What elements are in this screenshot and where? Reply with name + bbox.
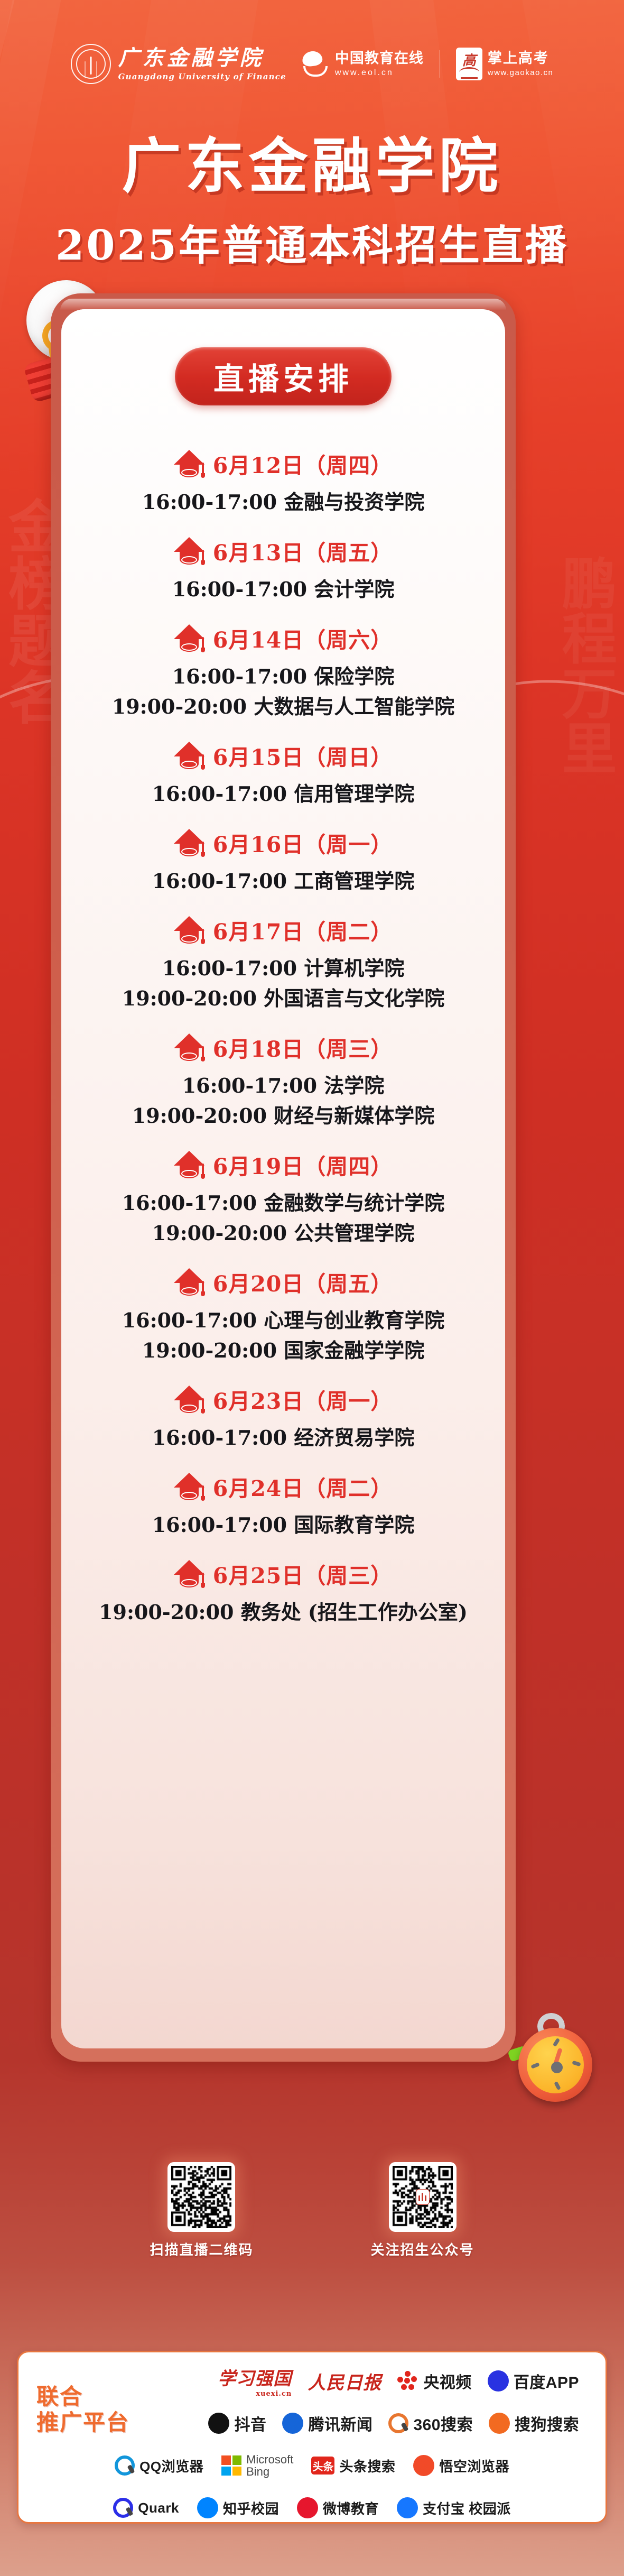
- partner-badge-icon: [488, 2370, 509, 2392]
- schedule-day-header: 6月25日（周三）: [61, 1558, 505, 1590]
- qr-live-block: 扫描直播二维码: [150, 2162, 253, 2259]
- schedule-day-header: 6月17日（周二）: [61, 914, 505, 946]
- schedule-date: 6月24日（周二）: [213, 1471, 393, 1502]
- partner-item[interactable]: 学习强国xuexi.cn: [218, 2364, 292, 2398]
- schedule-day: 6月13日（周五） 16:00-17:00 会计学院: [61, 535, 505, 604]
- partner-item[interactable]: 头条 头条搜索: [311, 2456, 395, 2476]
- partner-dots-icon: [397, 2371, 418, 2391]
- university-logo: 广东金融学院 Guangdong University of Finance: [71, 44, 286, 84]
- partner-name: QQ浏览器: [139, 2456, 203, 2476]
- schedule-day: 6月23日（周一） 16:00-17:00 经济贸易学院: [61, 1383, 505, 1453]
- partner-name: Quark: [138, 2500, 179, 2516]
- graduation-cap-icon: [174, 829, 204, 856]
- partner-name: MicrosoftBing: [246, 2453, 293, 2478]
- schedule-slot: 16:00-17:00 保险学院: [61, 661, 505, 691]
- partner-item[interactable]: 搜狗搜索: [489, 2412, 579, 2435]
- schedule-day-header: 6月20日（周五）: [61, 1266, 505, 1298]
- partner-row: QQ浏览器 MicrosoftBing头条 头条搜索 悟空浏览器: [27, 2444, 597, 2487]
- schedule-day-header: 6月14日（周六）: [61, 622, 505, 654]
- graduation-cap-icon: [174, 916, 204, 944]
- schedule-day: 6月17日（周二） 16:00-17:00 计算机学院19:00-20:00 外…: [61, 914, 505, 1013]
- schedule-slot: 16:00-17:00 金融数学与统计学院: [61, 1188, 505, 1218]
- graduation-cap-icon: [174, 624, 204, 652]
- graduation-cap-icon: [174, 1151, 204, 1178]
- schedule-day: 6月15日（周日） 16:00-17:00 信用管理学院: [61, 740, 505, 809]
- header-logo-bar: 广东金融学院 Guangdong University of Finance 中…: [0, 41, 624, 87]
- partner-item[interactable]: 百度APP: [488, 2369, 579, 2393]
- university-name-en: Guangdong University of Finance: [118, 73, 286, 81]
- schedule-day-header: 6月23日（周一）: [61, 1383, 505, 1415]
- schedule-day-header: 6月13日（周五）: [61, 535, 505, 567]
- partner-wordmark-icon: 学习强国xuexi.cn: [218, 2364, 292, 2398]
- schedule-date: 6月17日（周二）: [213, 914, 393, 946]
- eol-mark-icon: [302, 50, 330, 78]
- schedule-day: 6月14日（周六） 16:00-17:00 保险学院19:00-20:00 大数…: [61, 622, 505, 722]
- partner-item[interactable]: 悟空浏览器: [413, 2455, 509, 2476]
- partner-item[interactable]: 微博教育: [297, 2497, 379, 2518]
- graduation-cap-icon: [174, 450, 204, 477]
- gaokao-url: www.gaokao.cn: [488, 69, 554, 78]
- partner-name: 头条搜索: [339, 2456, 395, 2476]
- schedule-day: 6月16日（周一） 16:00-17:00 工商管理学院: [61, 827, 505, 896]
- qr-wechat-caption: 关注招生公众号: [371, 2239, 474, 2259]
- qr-section: 扫描直播二维码 关注招生公众号: [0, 2162, 624, 2259]
- partner-name: 360搜索: [413, 2412, 473, 2435]
- partner-item[interactable]: 央视频: [397, 2369, 472, 2393]
- poster-subtitle: 2025年普通本科招生直播: [0, 213, 624, 272]
- schedule-slot: 19:00-20:00 财经与新媒体学院: [61, 1101, 505, 1131]
- schedule-slot: 16:00-17:00 工商管理学院: [61, 866, 505, 896]
- gaokao-logo: 掌上高考 www.gaokao.cn: [456, 48, 554, 80]
- schedule-slot: 19:00-20:00 国家金融学学院: [61, 1335, 505, 1365]
- partner-ring-icon: [388, 2413, 408, 2433]
- schedule-slot: 16:00-17:00 信用管理学院: [61, 779, 505, 809]
- schedule-card: 直播安排 6月12日（周四） 16:00-17:00 金融与投资学院 6月13日…: [61, 309, 505, 2048]
- graduation-cap-icon: [174, 1473, 204, 1500]
- partner-badge-icon: [413, 2455, 434, 2476]
- graduation-cap-icon: [174, 537, 204, 565]
- schedule-day: 6月18日（周三） 16:00-17:00 法学院19:00-20:00 财经与…: [61, 1031, 505, 1131]
- partner-name: 支付宝 校园派: [423, 2498, 511, 2518]
- partner-item[interactable]: 抖音: [208, 2412, 266, 2435]
- graduation-cap-icon: [174, 1386, 204, 1413]
- partner-label-line2: 推广平台: [36, 2410, 147, 2436]
- stopwatch-icon: [508, 2013, 599, 2106]
- partner-name: 央视频: [423, 2369, 472, 2393]
- partner-badge-icon: [282, 2413, 303, 2434]
- partner-item[interactable]: QQ浏览器: [115, 2455, 203, 2476]
- partner-name: 知乎校园: [223, 2498, 279, 2518]
- qr-wechat-block: 关注招生公众号: [371, 2162, 474, 2259]
- partner-square-icon: 头条: [311, 2457, 334, 2475]
- microsoft-grid-icon: [221, 2455, 241, 2476]
- partner-wordmark-icon: 人民日报: [308, 2368, 381, 2394]
- schedule-day-header: 6月12日（周四）: [61, 448, 505, 479]
- schedule-slot: 19:00-20:00 教务处 (招生工作办公室): [61, 1597, 505, 1627]
- schedule-date: 6月19日（周四）: [213, 1149, 393, 1180]
- schedule-day-header: 6月16日（周一）: [61, 827, 505, 858]
- qr-live-caption: 扫描直播二维码: [150, 2239, 253, 2259]
- graduation-cap-icon: [174, 1560, 204, 1587]
- schedule-date: 6月23日（周一）: [213, 1383, 393, 1415]
- partner-badge-icon: [208, 2413, 229, 2434]
- graduation-cap-icon: [174, 1033, 204, 1061]
- partner-item[interactable]: 360搜索: [388, 2412, 473, 2435]
- schedule-day-header: 6月24日（周二）: [61, 1471, 505, 1502]
- partner-name: 百度APP: [514, 2369, 579, 2393]
- schedule-day: 6月19日（周四） 16:00-17:00 金融数学与统计学院19:00-20:…: [61, 1149, 505, 1248]
- schedule-slot: 16:00-17:00 心理与创业教育学院: [61, 1305, 505, 1335]
- qr-live-image: [171, 2166, 231, 2228]
- logo-divider: [440, 50, 440, 78]
- schedule-date: 6月16日（周一）: [213, 827, 393, 858]
- qr-live-card[interactable]: [167, 2162, 235, 2232]
- schedule-day: 6月20日（周五） 16:00-17:00 心理与创业教育学院19:00-20:…: [61, 1266, 505, 1365]
- schedule-slot: 19:00-20:00 外国语言与文化学院: [61, 983, 505, 1013]
- partner-ring-icon: [115, 2455, 135, 2476]
- schedule-slot: 16:00-17:00 计算机学院: [61, 953, 505, 983]
- schedule-date: 6月13日（周五）: [213, 535, 393, 567]
- schedule-date: 6月12日（周四）: [213, 448, 393, 479]
- partner-badge-icon: [197, 2497, 218, 2518]
- schedule-day-header: 6月18日（周三）: [61, 1031, 505, 1063]
- schedule-slot: 19:00-20:00 公共管理学院: [61, 1218, 505, 1248]
- gaokao-mark-icon: [456, 48, 482, 80]
- schedule-date: 6月14日（周六）: [213, 622, 393, 654]
- partner-item[interactable]: Quark: [113, 2498, 179, 2518]
- eol-logo: 中国教育在线 www.eol.cn: [302, 50, 424, 78]
- partner-badge-icon: [397, 2497, 418, 2518]
- qr-wechat-card[interactable]: [389, 2162, 457, 2232]
- schedule-day-header: 6月19日（周四）: [61, 1149, 505, 1180]
- partner-name: 搜狗搜索: [515, 2412, 579, 2435]
- schedule-slot: 16:00-17:00 会计学院: [61, 574, 505, 604]
- schedule-slot: 19:00-20:00 大数据与人工智能学院: [61, 691, 505, 722]
- partner-badge-icon: [297, 2497, 318, 2518]
- eol-name-cn: 中国教育在线: [335, 50, 424, 66]
- graduation-cap-icon: [174, 1268, 204, 1296]
- schedule-slot: 16:00-17:00 国际教育学院: [61, 1510, 505, 1540]
- schedule-title-label: 直播安排: [213, 354, 353, 399]
- qr-university-badge-icon: [416, 2189, 430, 2205]
- university-name-cn: 广东金融学院: [118, 48, 286, 69]
- partner-badge-icon: [489, 2413, 510, 2434]
- partner-name: 微博教育: [323, 2498, 379, 2518]
- partner-panel-label: 联合 推广平台: [36, 2384, 147, 2435]
- partner-name: 抖音: [234, 2412, 266, 2435]
- schedule-title-badge: 直播安排: [175, 347, 392, 405]
- partner-ring-icon: [113, 2498, 133, 2518]
- partner-name: 悟空浏览器: [439, 2456, 509, 2476]
- partner-item[interactable]: 支付宝 校园派: [397, 2497, 511, 2518]
- partner-label-line1: 联合: [36, 2384, 147, 2410]
- partner-item[interactable]: 人民日报: [308, 2368, 381, 2394]
- eol-url: www.eol.cn: [335, 68, 424, 78]
- university-crest-icon: [71, 44, 111, 84]
- partner-item[interactable]: 知乎校园: [197, 2497, 279, 2518]
- schedule-day-header: 6月15日（周日）: [61, 740, 505, 771]
- partner-panel: 联合 推广平台 学习强国xuexi.cn人民日报 央视频 百度APP 抖音 腾讯…: [17, 2351, 607, 2524]
- schedule-list: 6月12日（周四） 16:00-17:00 金融与投资学院 6月13日（周五） …: [61, 430, 505, 1629]
- partner-item[interactable]: 腾讯新闻: [282, 2412, 372, 2435]
- gaokao-name-cn: 掌上高考: [488, 50, 554, 66]
- schedule-slot: 16:00-17:00 法学院: [61, 1070, 505, 1101]
- schedule-slot: 16:00-17:00 金融与投资学院: [61, 487, 505, 517]
- schedule-day: 6月24日（周二） 16:00-17:00 国际教育学院: [61, 1471, 505, 1540]
- schedule-date: 6月15日（周日）: [213, 740, 393, 771]
- schedule-date: 6月20日（周五）: [213, 1266, 393, 1298]
- schedule-day: 6月25日（周三） 19:00-20:00 教务处 (招生工作办公室): [61, 1558, 505, 1627]
- poster-title: 广东金融学院: [0, 118, 624, 204]
- schedule-date: 6月25日（周三）: [213, 1558, 393, 1590]
- schedule-date: 6月18日（周三）: [213, 1031, 393, 1063]
- partner-row: Quark 知乎校园 微博教育 支付宝 校园派: [27, 2487, 597, 2529]
- schedule-day: 6月12日（周四） 16:00-17:00 金融与投资学院: [61, 448, 505, 517]
- partner-item[interactable]: MicrosoftBing: [221, 2453, 293, 2478]
- schedule-slot: 16:00-17:00 经济贸易学院: [61, 1423, 505, 1453]
- graduation-cap-icon: [174, 742, 204, 769]
- partner-name: 腾讯新闻: [308, 2412, 372, 2435]
